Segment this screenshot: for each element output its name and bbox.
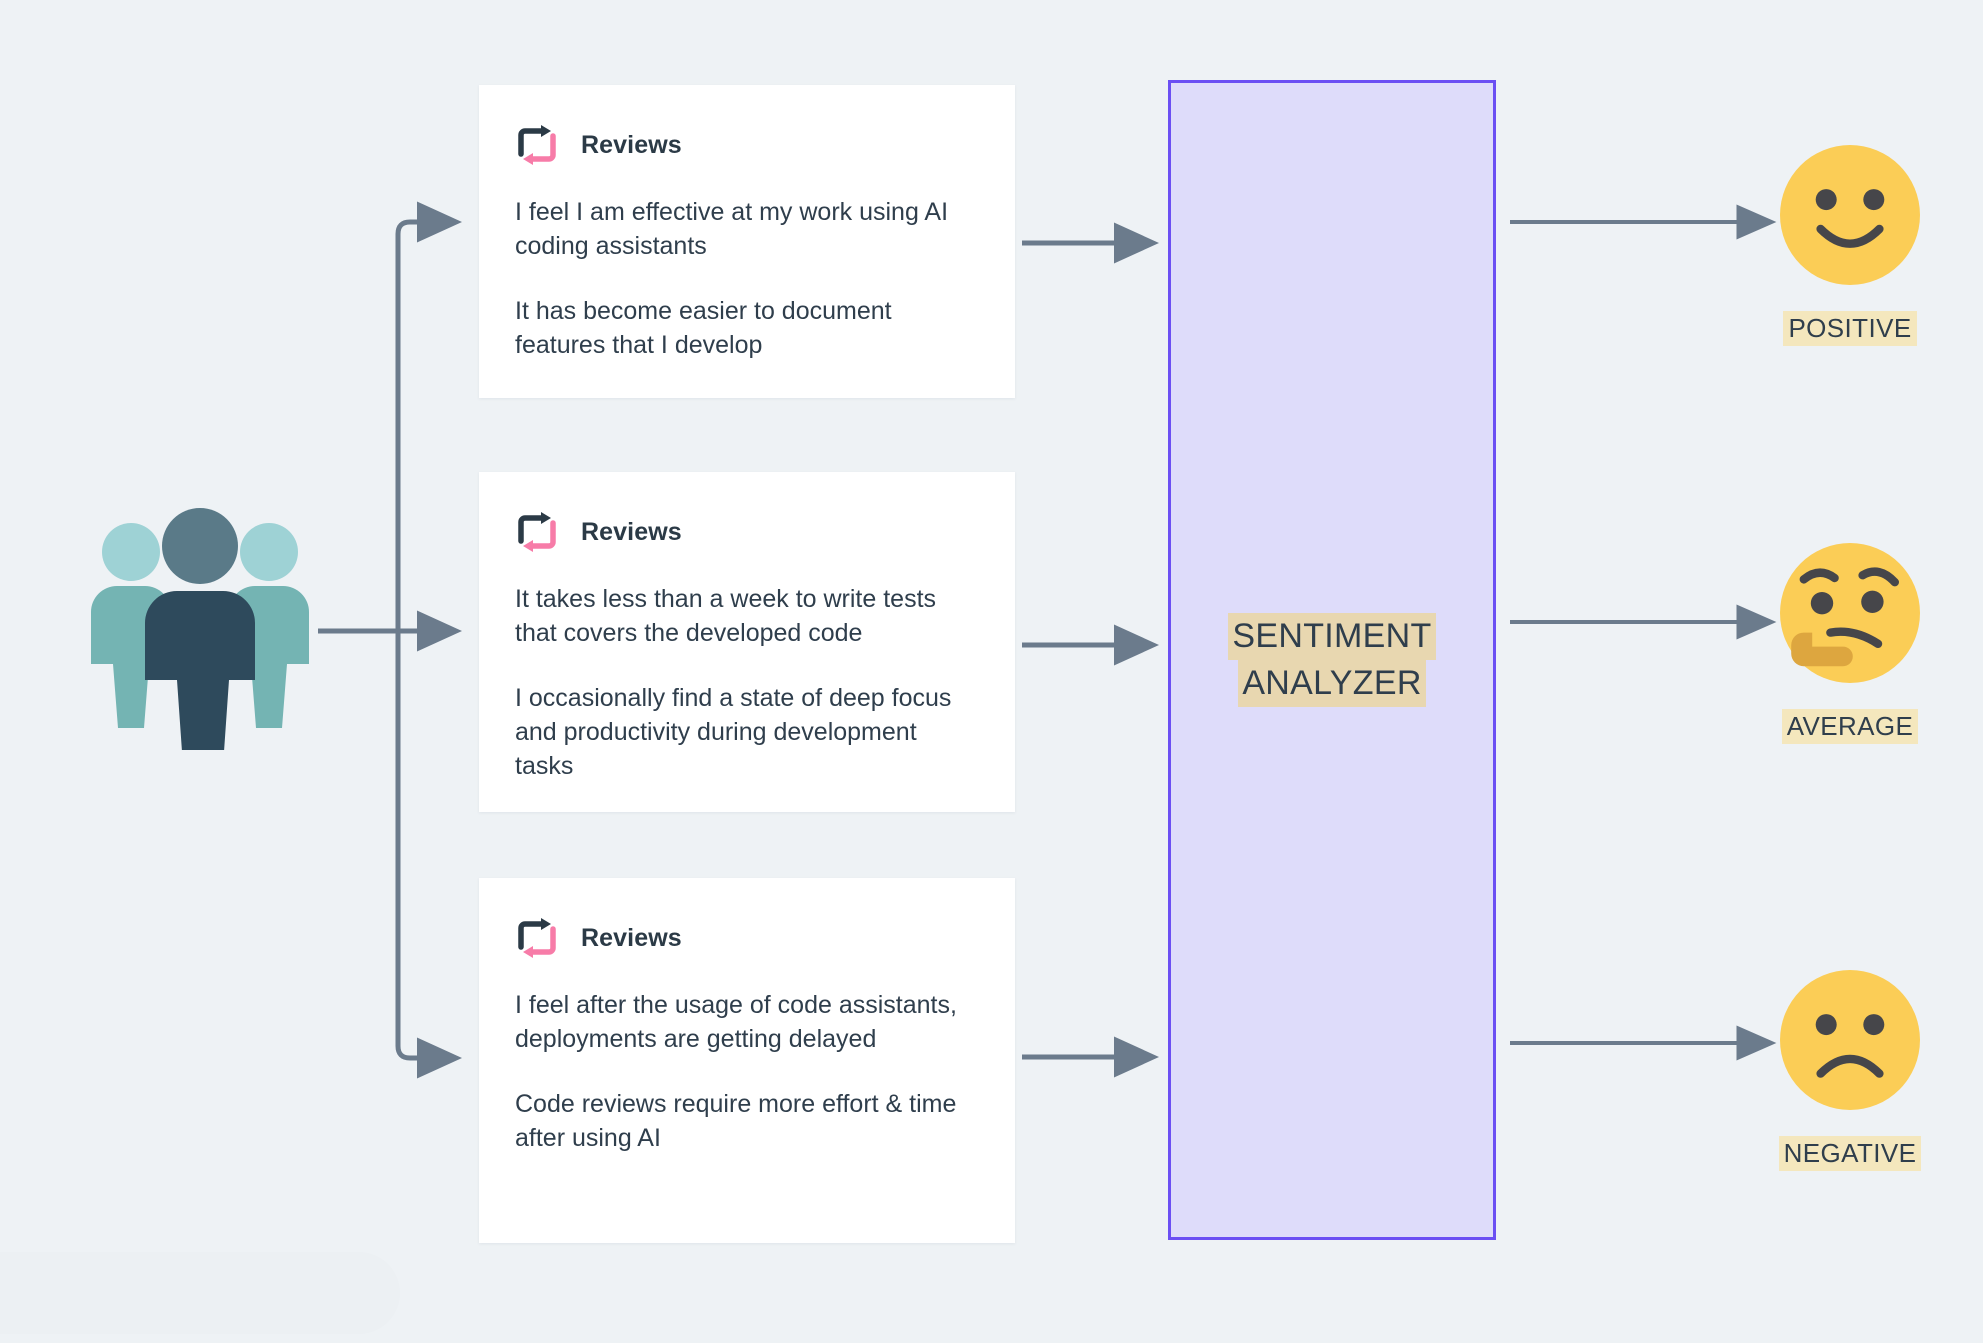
review-card[interactable]: Reviews I feel I am effective at my work… <box>479 85 1015 398</box>
card-title: Reviews <box>581 518 682 547</box>
repeat-loop-icon <box>515 918 559 958</box>
review-text: It has become easier to document feature… <box>515 294 981 363</box>
smiling-face-icon <box>1780 145 1920 285</box>
frowning-face-icon <box>1780 970 1920 1110</box>
card-body: I feel I am effective at my work using A… <box>515 195 981 362</box>
analyzer-label-line1: SENTIMENT <box>1228 613 1435 660</box>
analyzer-label: SENTIMENT ANALYZER <box>1228 613 1435 707</box>
card-header: Reviews <box>515 512 981 552</box>
review-text: I occasionally find a state of deep focu… <box>515 681 981 784</box>
diagram-canvas: Reviews I feel I am effective at my work… <box>0 0 1983 1343</box>
repeat-loop-icon <box>515 512 559 552</box>
card-to-analyzer-connectors <box>1022 243 1152 1057</box>
card-body: I feel after the usage of code assistant… <box>515 988 981 1155</box>
outcome-label: NEGATIVE <box>1779 1136 1922 1171</box>
card-title: Reviews <box>581 924 682 953</box>
outcome-negative[interactable]: NEGATIVE <box>1735 970 1965 1171</box>
review-text: I feel after the usage of code assistant… <box>515 988 981 1057</box>
review-text: Code reviews require more effort & time … <box>515 1087 981 1156</box>
branch-connector <box>318 222 455 1058</box>
review-text: I feel I am effective at my work using A… <box>515 195 981 264</box>
card-header: Reviews <box>515 125 981 165</box>
outcome-label: AVERAGE <box>1782 709 1919 744</box>
review-card[interactable]: Reviews It takes less than a week to wri… <box>479 472 1015 812</box>
review-card[interactable]: Reviews I feel after the usage of code a… <box>479 878 1015 1243</box>
review-text: It takes less than a week to write tests… <box>515 582 981 651</box>
person-center-icon <box>145 508 255 750</box>
outcome-average[interactable]: AVERAGE <box>1735 543 1965 744</box>
analyzer-label-line2: ANALYZER <box>1238 660 1425 707</box>
sentiment-analyzer-box[interactable]: SENTIMENT ANALYZER <box>1168 80 1496 1240</box>
card-body: It takes less than a week to write tests… <box>515 582 981 783</box>
card-header: Reviews <box>515 918 981 958</box>
outcome-label: POSITIVE <box>1783 311 1916 346</box>
thinking-face-icon <box>1780 543 1920 683</box>
people-group-icon <box>75 500 325 750</box>
outcome-positive[interactable]: POSITIVE <box>1735 145 1965 346</box>
card-title: Reviews <box>581 131 682 160</box>
analyzer-to-outcome-connectors <box>1510 222 1770 1043</box>
repeat-loop-icon <box>515 125 559 165</box>
